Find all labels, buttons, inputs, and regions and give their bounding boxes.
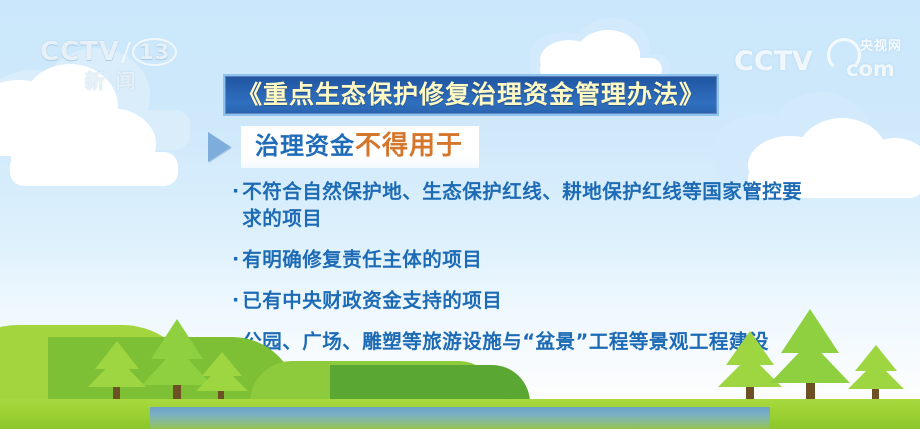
logo-slash-icon [121, 42, 131, 63]
channel-sub-label: 新闻 [40, 70, 180, 92]
watermark-com-text: com [846, 58, 895, 80]
subtitle-text-primary: 治理资金 [255, 132, 355, 160]
list-item-text: 已有中央财政资金支持的项目 [242, 287, 502, 314]
water-strip [150, 407, 770, 429]
subtitle-box: 治理资金不得用于 [241, 126, 479, 168]
cctv-com-watermark: CCTV 央视网 com [734, 38, 904, 84]
list-item: · 公园、广场、雕塑等旅游设施与“盆景”工程等景观工程建设 [232, 328, 832, 355]
broadcast-graphic: CCTV 13 新闻 CCTV 央视网 com 《重点生态保护修复治理资金管理办… [0, 0, 920, 429]
channel-logo-row: CCTV 13 [40, 38, 180, 66]
cloud-top-mid [530, 18, 680, 78]
list-item-text: 不符合自然保护地、生态保护红线、耕地保护红线等国家管控要求的项目 [242, 178, 812, 232]
list-item: · 不符合自然保护地、生态保护红线、耕地保护红线等国家管控要求的项目 [232, 178, 832, 232]
tree-small-left [88, 341, 146, 403]
watermark-chinese-text: 央视网 [860, 40, 902, 54]
tree-small-right [848, 345, 904, 403]
subtitle-text-emphasis: 不得用于 [355, 131, 463, 161]
list-item: · 有明确修复责任主体的项目 [232, 246, 832, 273]
ground-strip [0, 399, 920, 429]
bullet-list: · 不符合自然保护地、生态保护红线、耕地保护红线等国家管控要求的项目 · 有明确… [232, 178, 832, 369]
cloud-left-lower [10, 108, 190, 178]
list-item-text: 公园、广场、雕塑等旅游设施与“盆景”工程等景观工程建设 [242, 328, 769, 355]
channel-logo-text: CCTV [40, 39, 120, 65]
list-item-text: 有明确修复责任主体的项目 [242, 246, 482, 273]
cloud-right-back [715, 92, 905, 182]
channel-number: 13 [132, 38, 177, 66]
bullet-dot-icon: · [232, 287, 239, 314]
cloud-top-mid-front [540, 30, 670, 80]
hill-left-light [0, 325, 200, 403]
watermark-cctv-text: CCTV [734, 48, 813, 75]
bullet-dot-icon: · [232, 246, 239, 273]
hill-mid-dark [330, 365, 530, 403]
title-banner: 《重点生态保护修复治理资金管理办法》 [223, 74, 719, 116]
list-item: · 已有中央财政资金支持的项目 [232, 287, 832, 314]
bullet-dot-icon: · [232, 328, 239, 355]
tree-tall-left [142, 317, 212, 403]
subtitle-row: 治理资金不得用于 [208, 126, 479, 168]
bullet-dot-icon: · [232, 178, 239, 205]
triangle-right-icon [208, 132, 231, 162]
cctv13-logo: CCTV 13 新闻 [40, 38, 180, 96]
page-title: 《重点生态保护修复治理资金管理办法》 [237, 80, 705, 109]
